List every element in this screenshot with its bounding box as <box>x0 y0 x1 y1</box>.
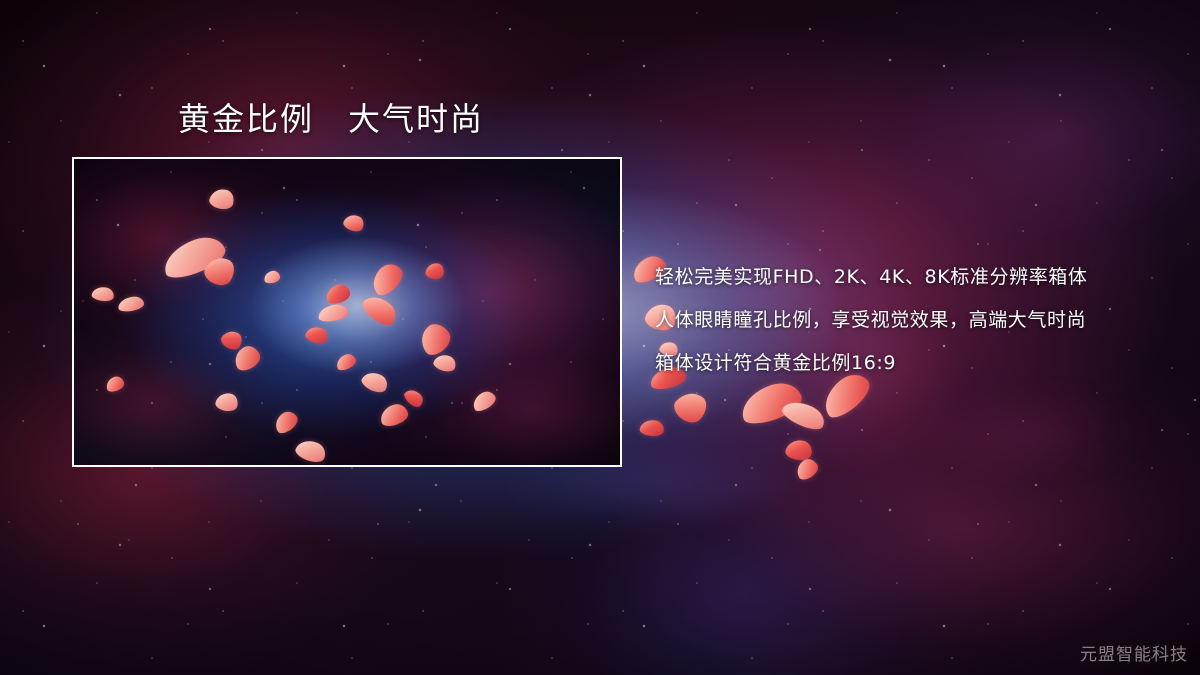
body-line-1: 轻松完美实现FHD、2K、4K、8K标准分辨率箱体 <box>655 256 1175 299</box>
featured-image-frame <box>72 157 622 467</box>
brand-watermark: 元盟智能科技 <box>1080 640 1188 665</box>
slide-body-text: 轻松完美实现FHD、2K、4K、8K标准分辨率箱体 人体眼睛瞳孔比例，享受视觉效… <box>655 256 1175 385</box>
slide-canvas: 黄金比例 大气时尚 轻松完美实现FHD、2K、4K、8K标准分辨率箱体 人体眼睛… <box>0 0 1200 675</box>
slide-title: 黄金比例 大气时尚 <box>178 100 484 138</box>
body-line-2: 人体眼睛瞳孔比例，享受视觉效果，高端大气时尚 <box>655 299 1175 342</box>
body-line-3: 箱体设计符合黄金比例16:9 <box>655 342 1175 385</box>
